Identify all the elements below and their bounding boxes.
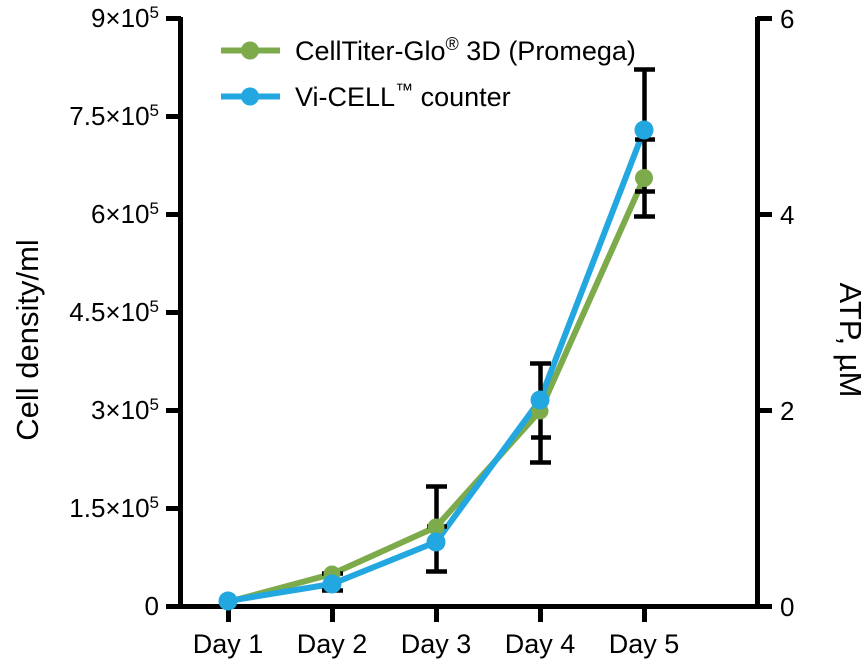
left-axis-title: Cell density/ml bbox=[10, 239, 45, 441]
left-ticklabel-0: 0 bbox=[145, 591, 159, 621]
marker-green-day-5 bbox=[635, 169, 653, 187]
x-ticklabel-day-5: Day 5 bbox=[609, 629, 680, 659]
left-ticklabel-750000: 7.5×105 bbox=[69, 101, 159, 131]
marker-blue-day-2 bbox=[323, 575, 342, 594]
x-ticklabel-day-2: Day 2 bbox=[297, 629, 368, 659]
x-ticklabel-day-1: Day 1 bbox=[193, 629, 264, 659]
marker-blue-day-5 bbox=[635, 121, 654, 140]
legend-swatch-marker-celltiter-glo bbox=[241, 42, 259, 60]
right-axis-title: ATP, µM bbox=[833, 283, 868, 398]
left-ticklabel-450000: 4.5×105 bbox=[69, 297, 159, 327]
left-ticklabel-900000: 9×105 bbox=[91, 3, 159, 33]
legend-swatch-marker-vi-cell bbox=[241, 88, 259, 106]
left-ticklabel-600000: 6×105 bbox=[91, 199, 159, 229]
chart-svg: 9×105 7.5×105 6×105 4.5×105 3×105 1.5×10… bbox=[0, 0, 868, 661]
chart-figure: 9×105 7.5×105 6×105 4.5×105 3×105 1.5×10… bbox=[0, 0, 868, 661]
left-ticklabel-300000: 3×105 bbox=[91, 395, 159, 425]
marker-blue-day-4 bbox=[531, 391, 550, 410]
x-ticklabel-day-3: Day 3 bbox=[401, 629, 472, 659]
left-ticklabel-150000: 1.5×105 bbox=[69, 493, 159, 523]
right-ticklabel-4: 4 bbox=[780, 200, 794, 230]
right-ticklabel-6: 6 bbox=[780, 4, 794, 34]
marker-blue-day-3 bbox=[427, 533, 446, 552]
right-ticklabel-0: 0 bbox=[780, 592, 794, 622]
legend-label-celltiter-glo: CellTiter-Glo® 3D (Promega) bbox=[295, 34, 636, 66]
right-ticklabel-2: 2 bbox=[780, 396, 794, 426]
x-ticklabel-day-4: Day 4 bbox=[505, 629, 576, 659]
marker-blue-day-1 bbox=[219, 592, 238, 611]
